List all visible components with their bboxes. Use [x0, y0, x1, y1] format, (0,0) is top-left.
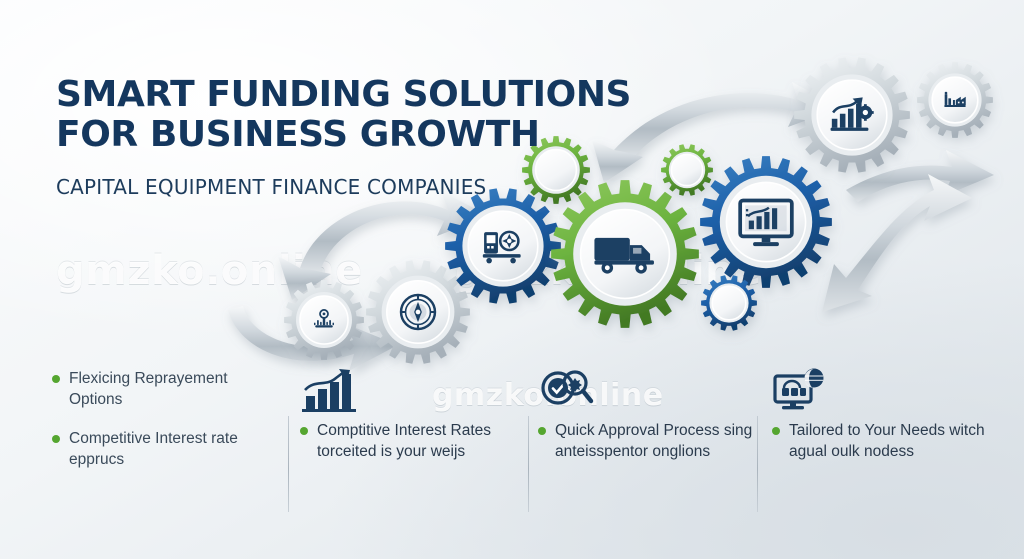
page-title: SMART FUNDING SOLUTIONS FOR BUSINESS GRO…	[56, 75, 631, 155]
list-item-label: Quick Approval Process sing anteisspento…	[555, 420, 758, 462]
bullet-dot-icon	[52, 375, 60, 383]
list-item: Tailored to Your Needs witch agual oulk …	[772, 420, 994, 462]
column-divider-2	[528, 416, 529, 512]
column-divider-1	[288, 416, 289, 512]
list-item-label: Tailored to Your Needs witch agual oulk …	[789, 420, 994, 462]
small-green-gear-2-hub	[671, 154, 702, 185]
list-item: Comptitive Interest Rates torceited is y…	[300, 420, 522, 462]
compass-icon	[401, 295, 435, 329]
growth-gear	[794, 57, 910, 172]
list-item: Quick Approval Process sing anteisspento…	[538, 420, 758, 462]
truck-gear	[551, 180, 699, 328]
gauge-gear	[284, 280, 364, 360]
list-item-label: Competitive Interest rate epprucs	[69, 428, 282, 470]
feature-column-1: Flexicing Reprayement Options Competitiv…	[52, 368, 282, 488]
page-title-line-1: SMART FUNDING SOLUTIONS	[56, 74, 631, 115]
list-item: Competitive Interest rate epprucs	[52, 428, 282, 470]
bullet-dot-icon	[300, 427, 308, 435]
page-title-line-2: FOR BUSINESS GROWTH	[56, 115, 631, 155]
small-blue-gear-hub	[712, 286, 746, 320]
list-item-label: Comptitive Interest Rates torceited is y…	[317, 420, 522, 462]
feature-column-3: Quick Approval Process sing anteisspento…	[538, 368, 758, 480]
feature-column-2: Comptitive Interest Rates torceited is y…	[300, 368, 522, 480]
analytics-gear	[700, 156, 832, 288]
factory-gear	[917, 62, 993, 138]
bullet-dot-icon	[538, 427, 546, 435]
infographic-poster: gmzko.online gmzko.online gmzko.online S…	[0, 0, 1024, 559]
bullet-dot-icon	[52, 435, 60, 443]
factory-gear-hub	[932, 77, 978, 123]
arrow-right-loop-down	[822, 174, 972, 312]
list-item: Flexicing Reprayement Options	[52, 368, 282, 410]
feature-column-4: Tailored to Your Needs witch agual oulk …	[772, 368, 994, 480]
headline-block: SMART FUNDING SOLUTIONS FOR BUSINESS GRO…	[56, 75, 631, 199]
bullet-dot-icon	[772, 427, 780, 435]
monitor-globe-icon	[772, 368, 994, 412]
page-subtitle: CAPITAL EQUIPMENT FINANCE COMPANIES	[56, 175, 631, 199]
approval-check-search-icon	[538, 368, 758, 412]
list-item-label: Flexicing Reprayement Options	[69, 368, 282, 410]
feature-columns: Flexicing Reprayement Options Competitiv…	[0, 368, 1024, 559]
growth-bar-chart-icon	[300, 368, 522, 412]
small-green-gear-2	[661, 144, 713, 195]
